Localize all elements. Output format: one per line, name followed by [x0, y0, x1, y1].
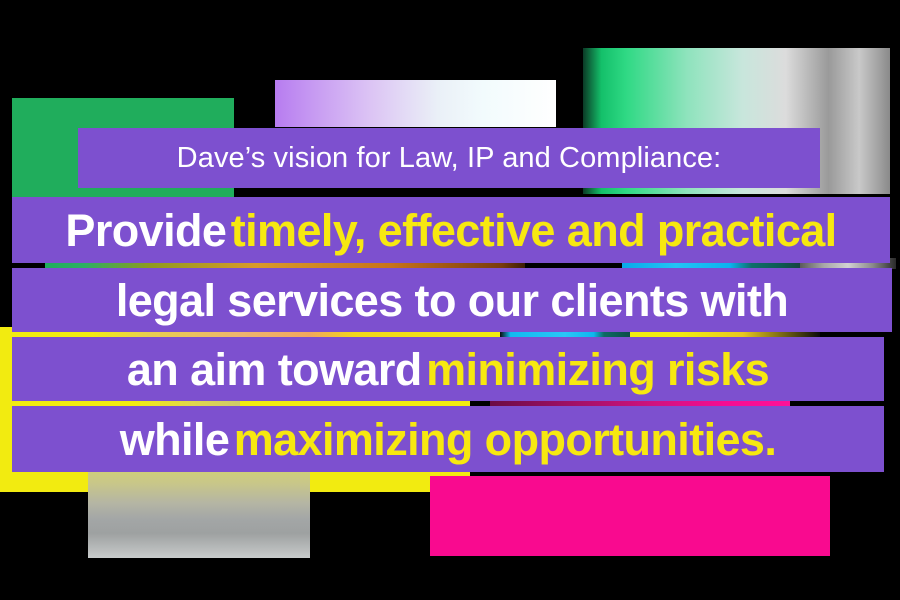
caption-bar-line-3: legal services to our clients with: [12, 268, 892, 332]
caption-text-line-1: Dave’s vision for Law, IP and Compliance…: [177, 142, 722, 175]
purple-to-white-gradient: [275, 80, 556, 127]
caption-text-line-3-white: legal services to our clients with: [116, 278, 788, 323]
pink-block: [430, 476, 830, 556]
slide-canvas: Dave’s vision for Law, IP and Compliance…: [0, 0, 900, 600]
caption-text-line-4-yellow: minimizing risks: [426, 347, 769, 392]
gray-gradient-block: [88, 470, 310, 558]
caption-text-line-2-white: Provide: [65, 208, 226, 253]
caption-text-line-2-yellow: timely, effective and practical: [231, 208, 837, 253]
caption-text-line-5-yellow: maximizing opportunities.: [234, 417, 777, 462]
caption-bar-line-5: while maximizing opportunities.: [12, 406, 884, 472]
caption-text-line-4-white: an aim toward: [127, 347, 422, 392]
caption-bar-line-2: Provide timely, effective and practical: [12, 197, 890, 263]
caption-text-line-5-white: while: [120, 417, 230, 462]
caption-bar-line-1: Dave’s vision for Law, IP and Compliance…: [78, 128, 820, 188]
caption-bar-line-4: an aim toward minimizing risks: [12, 337, 884, 401]
